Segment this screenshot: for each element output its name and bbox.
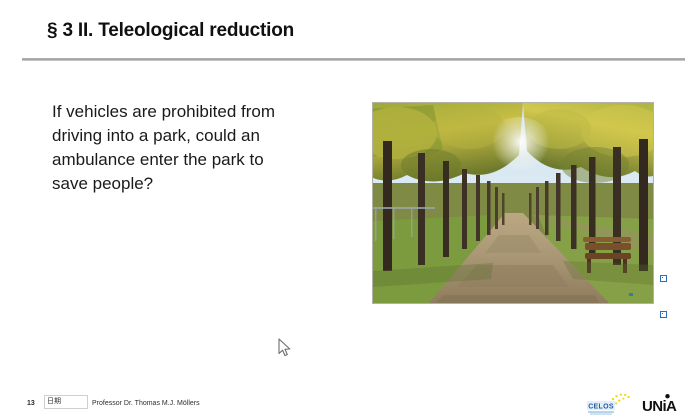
- slide-title: § 3 II. Teleological reduction: [47, 20, 294, 42]
- slide-body-text: If vehicles are prohibited from driving …: [52, 100, 322, 196]
- selection-handle-right-top[interactable]: [660, 275, 667, 282]
- svg-text:UNiA: UNiA: [642, 398, 677, 415]
- svg-text:CELOS: CELOS: [588, 403, 614, 410]
- body-line: If vehicles are prohibited from: [52, 100, 322, 124]
- presentation-slide: § 3 II. Teleological reduction If vehicl…: [0, 0, 685, 418]
- celos-logo: CELOS: [586, 391, 634, 417]
- date-placeholder-box[interactable]: 日期: [44, 395, 88, 409]
- body-line: save people?: [52, 172, 322, 196]
- slide-footer: 13 日期 Professor Dr. Thomas M.J. Möllers …: [0, 396, 685, 418]
- body-line: driving into a park, could an: [52, 124, 322, 148]
- date-placeholder-label: 日期: [47, 398, 61, 406]
- selection-handle-right-bottom[interactable]: [660, 311, 667, 318]
- unia-logo: UNiA: [640, 390, 682, 416]
- mouse-pointer-icon: [278, 338, 292, 358]
- footer-author: Professor Dr. Thomas M.J. Möllers: [92, 400, 200, 407]
- body-line: ambulance enter the park to: [52, 148, 322, 172]
- slide-number: 13: [27, 400, 35, 407]
- park-avenue-photo[interactable]: [372, 102, 654, 304]
- title-divider: [22, 58, 685, 61]
